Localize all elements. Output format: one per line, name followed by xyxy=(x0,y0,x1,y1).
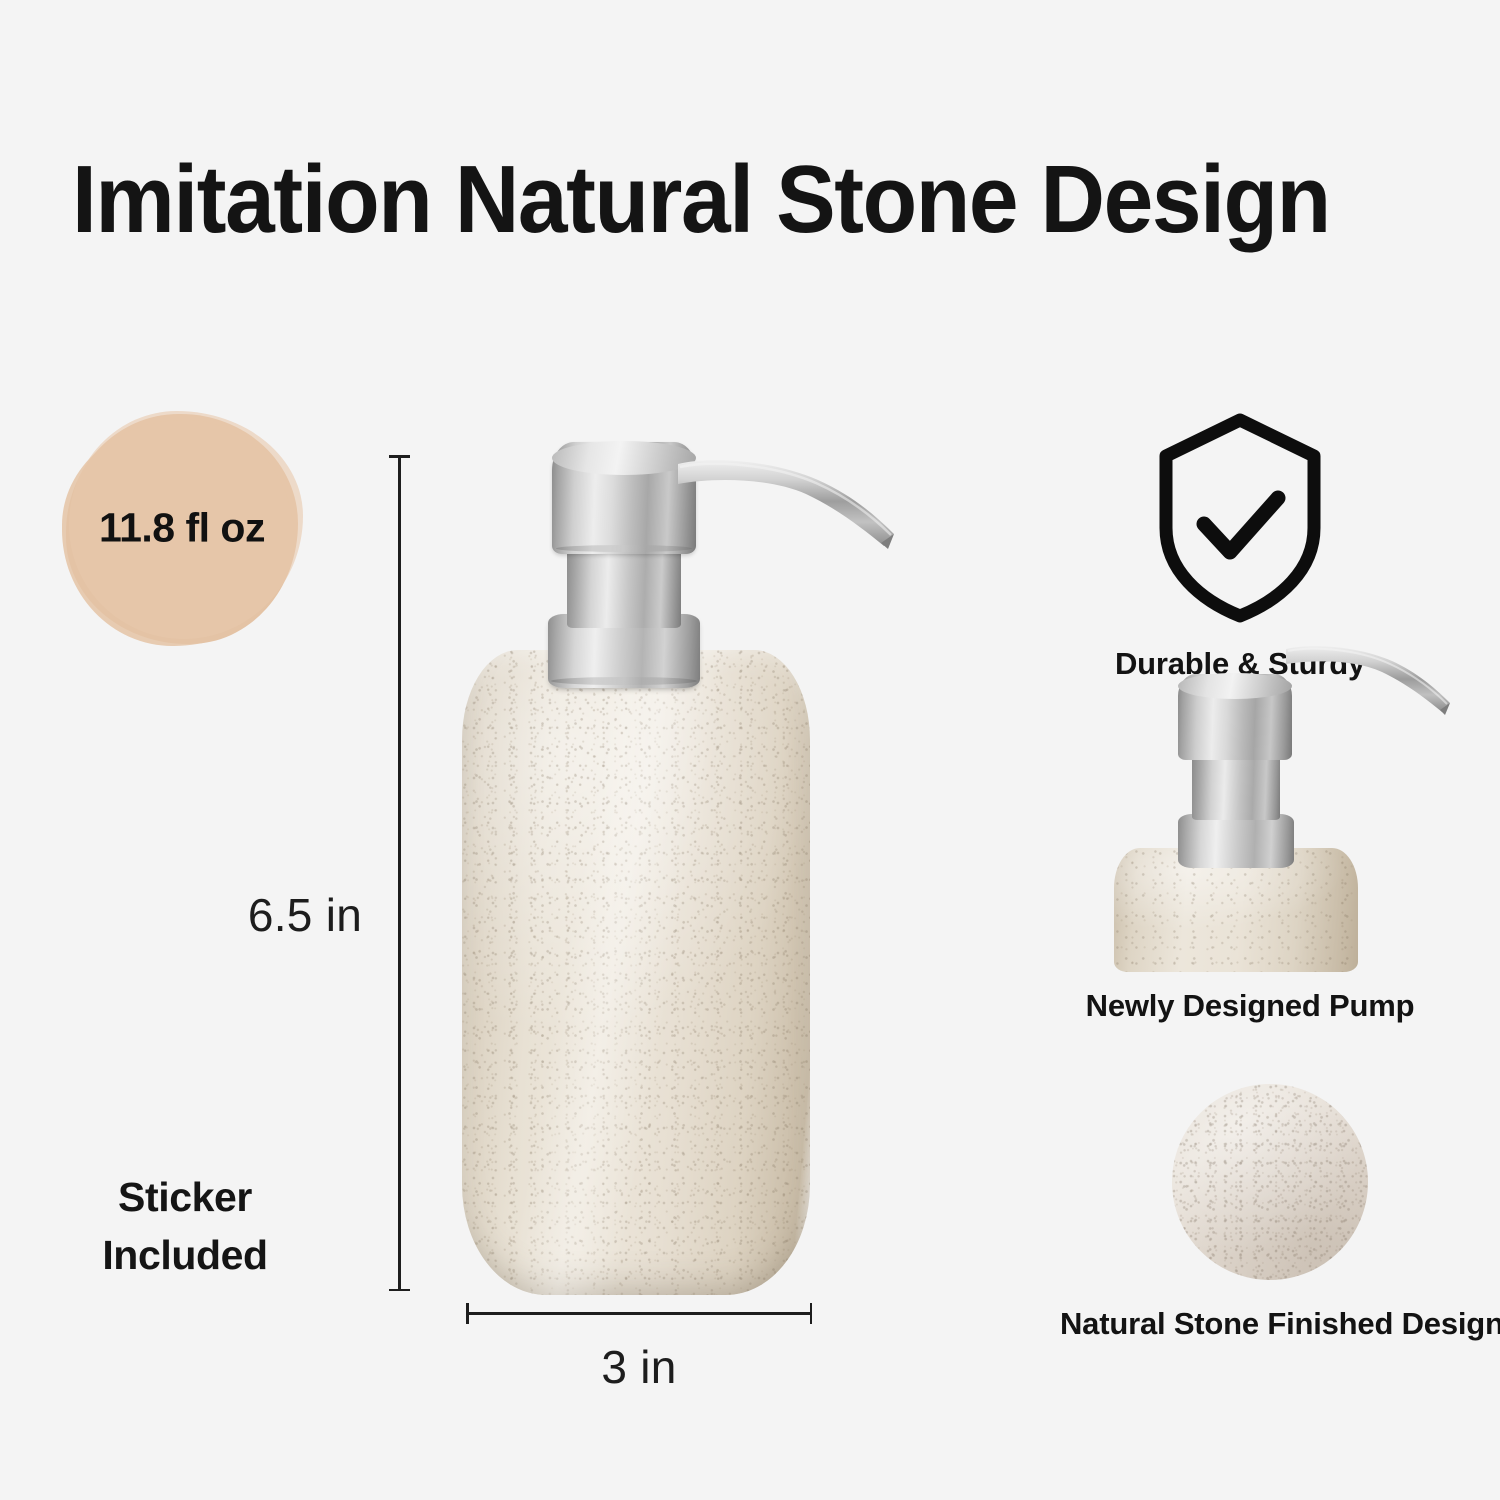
dispenser-bottle xyxy=(462,650,810,1295)
volume-badge-label: 11.8 fl oz xyxy=(66,505,298,552)
sticker-note-line1: Sticker xyxy=(60,1168,310,1226)
pump-spout xyxy=(676,450,926,560)
sticker-note-line2: Included xyxy=(60,1226,310,1284)
feature-label: Newly Designed Pump xyxy=(1040,988,1460,1024)
pump-photo-icon xyxy=(1102,700,1398,972)
width-dimension-line xyxy=(466,1312,812,1314)
height-dimension-line xyxy=(398,455,400,1291)
dimension-cap-top xyxy=(389,455,410,458)
pump-photo-spout xyxy=(1284,638,1474,722)
width-dimension-label: 3 in xyxy=(466,1340,812,1394)
page-title: Imitation Natural Stone Design xyxy=(72,152,1346,248)
product-image-main xyxy=(440,430,980,1310)
dimension-line-stroke xyxy=(398,455,401,1291)
dimension-cap-bottom xyxy=(389,1289,410,1292)
volume-badge: 11.8 fl oz xyxy=(66,414,298,644)
feature-natural-stone-finish: Natural Stone Finished Design xyxy=(1060,1084,1480,1342)
height-dimension-label: 6.5 in xyxy=(235,888,375,942)
shield-check-icon xyxy=(1154,412,1326,624)
sticker-included-note: Sticker Included xyxy=(60,1168,310,1284)
pump-cap xyxy=(552,442,696,554)
pump-photo-neck xyxy=(1192,754,1280,820)
dimension-line-stroke xyxy=(466,1312,812,1315)
stone-texture-swatch-icon xyxy=(1172,1084,1368,1280)
pump-photo-collar xyxy=(1178,814,1294,868)
feature-newly-designed-pump: Newly Designed Pump xyxy=(1040,700,1460,1024)
pump-photo-cap xyxy=(1178,674,1292,760)
feature-label: Natural Stone Finished Design xyxy=(1060,1306,1480,1342)
